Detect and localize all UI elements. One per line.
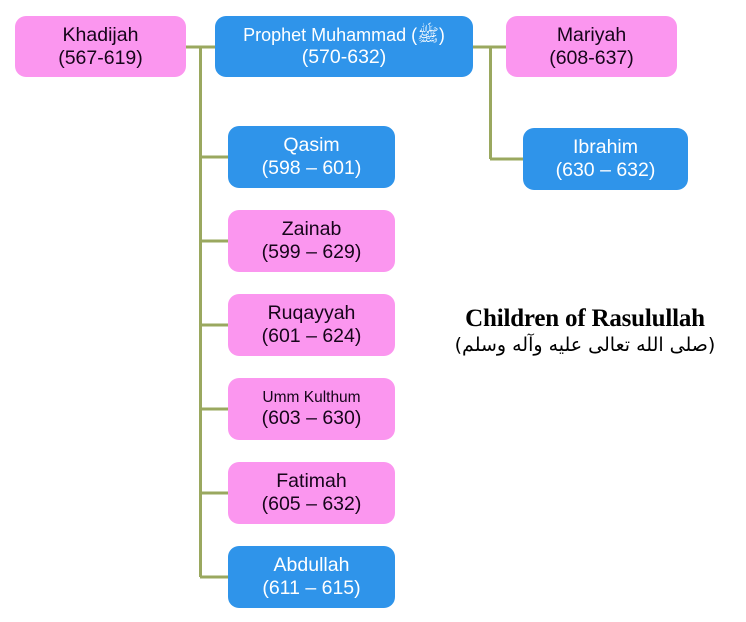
node-years: (630 – 632) <box>556 159 656 182</box>
node-fatimah[interactable]: Fatimah(605 – 632) <box>228 462 395 524</box>
node-name: Ibrahim <box>573 136 638 159</box>
node-years: (599 – 629) <box>262 241 362 264</box>
page-title: Children of Rasulullah <box>430 305 740 333</box>
node-prophet-muhammad[interactable]: Prophet Muhammad (ﷺ)(570-632) <box>215 16 473 77</box>
node-name: Ruqayyah <box>268 302 356 325</box>
node-years: (567-619) <box>58 47 143 70</box>
node-years: (605 – 632) <box>262 493 362 516</box>
node-ruqayyah[interactable]: Ruqayyah(601 – 624) <box>228 294 395 356</box>
node-khadijah[interactable]: Khadijah(567-619) <box>15 16 186 77</box>
node-name: Khadijah <box>63 24 139 47</box>
node-years: (603 – 630) <box>262 407 362 430</box>
node-name: Mariyah <box>557 24 626 47</box>
node-qasim[interactable]: Qasim(598 – 601) <box>228 126 395 188</box>
node-years: (601 – 624) <box>262 325 362 348</box>
node-ibrahim[interactable]: Ibrahim(630 – 632) <box>523 128 688 190</box>
node-years: (608-637) <box>549 47 634 70</box>
page-title-arabic: (صلى الله تعالى عليه وآله وسلم) <box>430 334 740 356</box>
node-name: Umm Kulthum <box>262 389 360 407</box>
node-name: Fatimah <box>276 470 346 493</box>
node-mariyah[interactable]: Mariyah(608-637) <box>506 16 677 77</box>
diagram-title-block: Children of Rasulullah (صلى الله تعالى ع… <box>430 305 740 356</box>
family-tree-diagram: Khadijah(567-619)Prophet Muhammad (ﷺ)(57… <box>0 0 746 622</box>
node-abdullah[interactable]: Abdullah(611 – 615) <box>228 546 395 608</box>
node-name: Prophet Muhammad (ﷺ) <box>243 25 445 46</box>
node-years: (598 – 601) <box>262 157 362 180</box>
node-name: Zainab <box>282 218 342 241</box>
node-zainab[interactable]: Zainab(599 – 629) <box>228 210 395 272</box>
node-umm-kulthum[interactable]: Umm Kulthum(603 – 630) <box>228 378 395 440</box>
node-years: (570-632) <box>302 46 387 69</box>
node-years: (611 – 615) <box>262 577 360 600</box>
node-name: Abdullah <box>274 554 350 577</box>
node-name: Qasim <box>283 134 339 157</box>
